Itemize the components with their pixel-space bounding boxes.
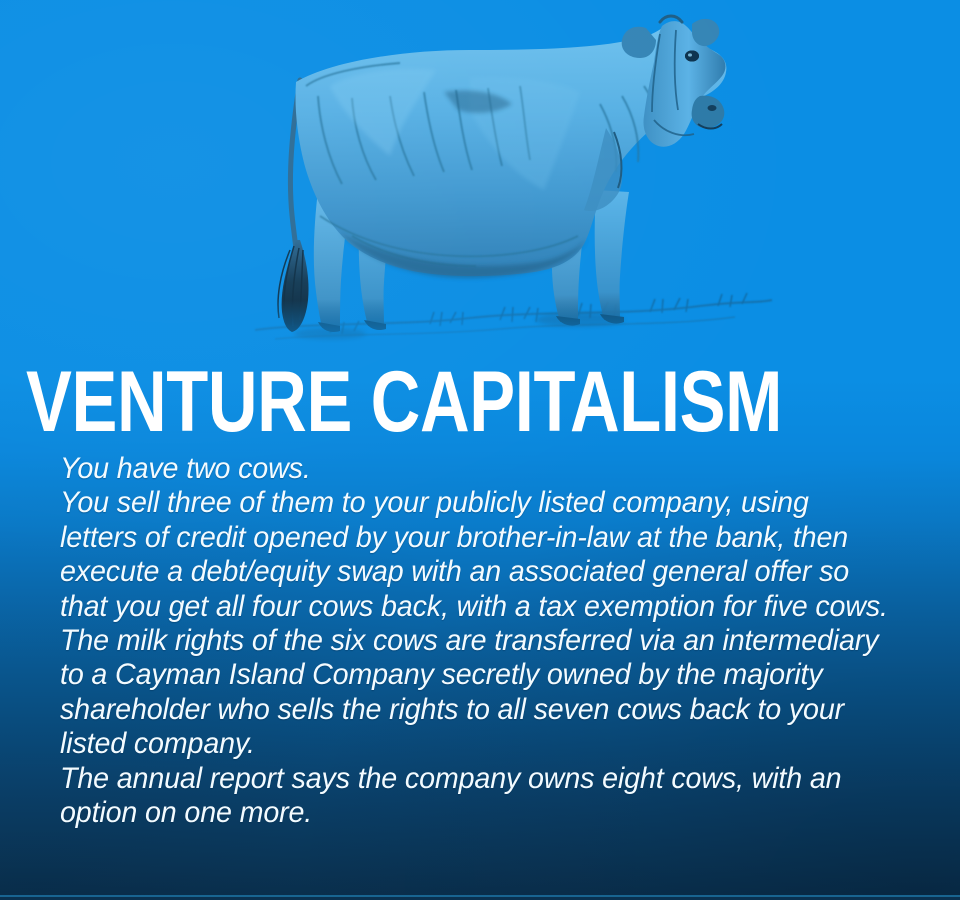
paragraph-1: You have two cows. — [60, 452, 891, 486]
page-title: VENTURE CAPITALISM — [26, 358, 754, 446]
paragraph-2: You sell three of them to your publicly … — [60, 486, 891, 624]
paragraph-3: The milk rights of the six cows are tran… — [60, 624, 891, 762]
poster-root: VENTURE CAPITALISM You have two cows. Yo… — [0, 0, 960, 900]
cow-illustration — [0, 0, 960, 368]
paragraph-4: The annual report says the company owns … — [60, 762, 891, 831]
poster-body: You have two cows. You sell three of the… — [60, 452, 891, 830]
